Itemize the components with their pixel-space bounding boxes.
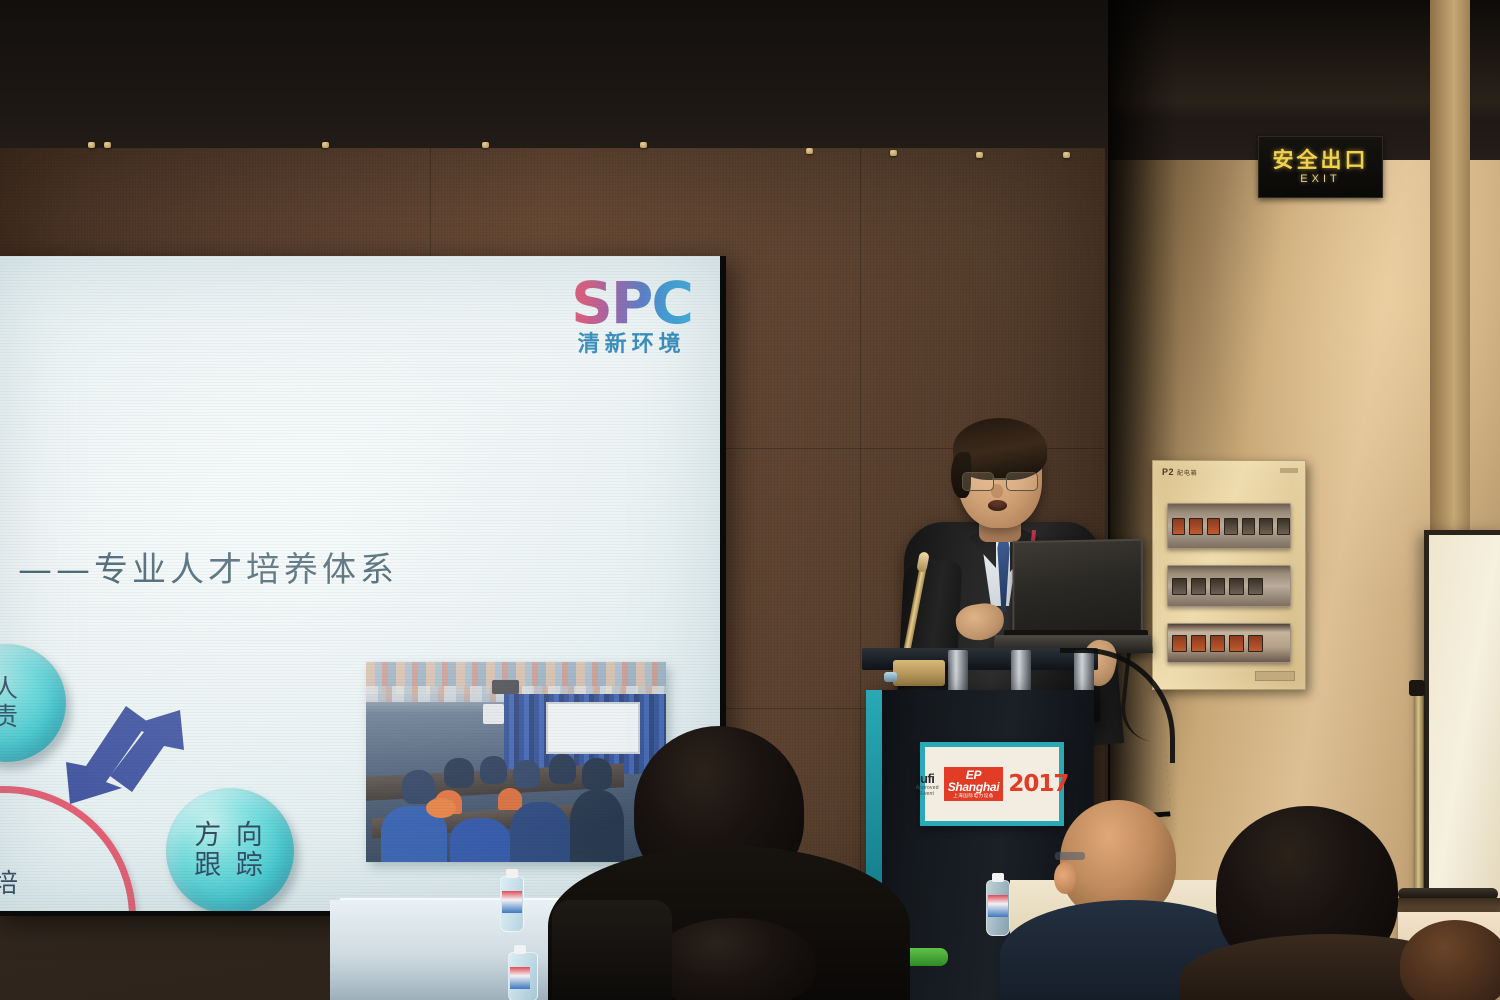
spc-wordmark: SPC: [571, 274, 692, 332]
glasses-icon: [962, 472, 1038, 490]
panel-tag: [1280, 468, 1298, 473]
speaker-mouth: [988, 500, 1007, 511]
presentation-slide: SPC 清新环境 ——专业人才培养体系 人才培 体系 人 责: [0, 256, 720, 911]
ufi-approved-label: Approved: [916, 786, 939, 791]
slide-title: ——专业人才培养体系: [18, 542, 398, 591]
ufi-event-label: Event: [916, 792, 939, 797]
panel-stud: [322, 142, 329, 148]
microphone-base: [893, 660, 945, 686]
audience-ear: [1054, 862, 1076, 894]
panel-stud: [806, 148, 813, 154]
panel-stud: [104, 142, 111, 148]
panel-stud: [640, 142, 647, 148]
water-bottle[interactable]: [986, 880, 1010, 936]
panel-bottom-tag: [1255, 671, 1295, 681]
panel-stud: [976, 152, 983, 158]
whiteboard-clip: [1409, 680, 1425, 696]
microphone-button[interactable]: [884, 672, 897, 682]
event-year: 2017: [1008, 771, 1068, 797]
distribution-panel: P2配电箱: [1152, 460, 1306, 690]
ep-shanghai-chinese: 上海国际电力设备: [948, 794, 1000, 799]
whiteboard: [1424, 530, 1500, 910]
ufi-logo: ufi Approved Event: [916, 772, 939, 797]
far-right-wall-strip: [1430, 0, 1470, 535]
photo-training-meeting: [366, 662, 666, 862]
ep-shanghai-wordmark: EP Shanghai: [948, 769, 1000, 793]
panel-stud: [1063, 152, 1070, 158]
projection-screen: SPC 清新环境 ——专业人才培养体系 人才培 体系 人 责: [0, 256, 726, 916]
breaker-row[interactable]: [1167, 503, 1291, 549]
ufi-wordmark: ufi: [916, 772, 939, 785]
ring-label: 人才培 体系: [0, 868, 64, 911]
emergency-exit-sign: 安全出口 EXIT: [1258, 136, 1383, 198]
panel-label: P2配电箱: [1162, 467, 1197, 477]
cycle-arrow-upper: [56, 692, 186, 812]
panel-stud: [482, 142, 489, 148]
breaker-row[interactable]: [1167, 623, 1291, 663]
audience-head: [652, 918, 816, 1000]
spc-chinese-name: 清新环境: [571, 334, 692, 356]
glasses-icon: [1055, 852, 1085, 860]
ep-shanghai-logo: EP Shanghai 上海国际电力设备: [944, 767, 1004, 801]
audience-chair: [552, 900, 672, 1000]
breaker-row[interactable]: [1167, 565, 1291, 607]
water-bottle[interactable]: [500, 876, 524, 932]
water-bottle[interactable]: [508, 952, 538, 1000]
presentation-scene: 安全出口 EXIT P2配电箱 SPC 清新环境: [0, 0, 1500, 1000]
exit-sign-english-label: EXIT: [1300, 174, 1340, 185]
exit-sign-chinese-label: 安全出口: [1273, 150, 1369, 171]
lectern-event-sign: ufi Approved Event EP Shanghai 上海国际电力设备 …: [920, 742, 1064, 826]
panel-stud: [88, 142, 95, 148]
spc-logo: SPC 清新环境: [571, 274, 692, 356]
laptop-screen[interactable]: [1012, 539, 1142, 642]
panel-stud: [890, 150, 897, 156]
